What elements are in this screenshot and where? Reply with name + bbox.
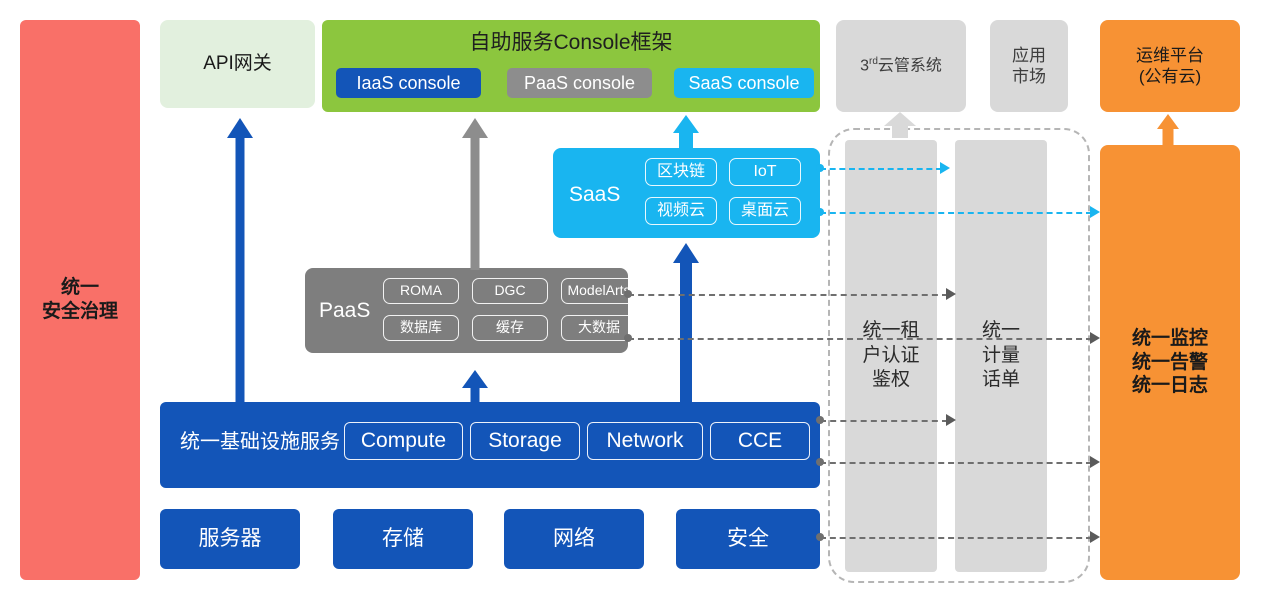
paas-service-dgc: DGC bbox=[472, 278, 548, 304]
dashed-line-infra-to-auth bbox=[820, 420, 948, 422]
api-gateway-box: API网关 bbox=[160, 20, 315, 108]
dashed-line-saas-to-auth bbox=[820, 168, 942, 170]
unified-infrastructure-bar: 统一基础设施服务 Compute Storage Network CCE bbox=[160, 402, 820, 488]
infra-service-compute: Compute bbox=[344, 422, 463, 460]
infra-label: 统一基础设施服务 bbox=[180, 430, 340, 455]
unified-tenant-auth-column: 统一租 户认证 鉴权 bbox=[845, 140, 937, 572]
paas-service-cache: 缓存 bbox=[472, 315, 548, 341]
ops-panel-line1: 统一监控 bbox=[1132, 327, 1208, 351]
arrowhead-paas-to-auth bbox=[946, 288, 956, 300]
security-panel-line1: 统一 bbox=[42, 276, 118, 300]
ops-platform-box: 运维平台 (公有云) bbox=[1100, 20, 1240, 112]
unified-billing-column: 统一 计量 话单 bbox=[955, 140, 1047, 572]
arrowhead-saas-to-auth bbox=[940, 162, 950, 174]
console-framework-title: 自助服务Console框架 bbox=[322, 30, 820, 56]
app-market-box: 应用 市场 bbox=[990, 20, 1068, 112]
app-market-line2: 市场 bbox=[1012, 66, 1046, 87]
arrow-infra-to-api-gateway bbox=[227, 118, 253, 406]
paas-console-chip: PaaS console bbox=[507, 68, 652, 98]
arrow-paas-to-console bbox=[462, 118, 488, 270]
architecture-diagram: 统一 安全治理 API网关 自助服务Console框架 IaaS console… bbox=[0, 0, 1265, 605]
resource-box-server: 服务器 bbox=[160, 509, 300, 569]
arrow-ops-panel-to-ops-platform bbox=[1155, 114, 1181, 146]
paas-layer-box: PaaS ROMA DGC ModelArts 数据库 缓存 大数据 bbox=[305, 268, 628, 353]
resource-box-network: 网络 bbox=[504, 509, 644, 569]
billing-column-line2: 计量 bbox=[982, 344, 1020, 369]
auth-column-line2: 户认证 bbox=[862, 344, 919, 369]
ops-platform-line2: (公有云) bbox=[1136, 66, 1204, 87]
iaas-console-label: IaaS console bbox=[356, 72, 460, 95]
saas-service-blockchain: 区块链 bbox=[645, 158, 717, 186]
saas-service-desktop-cloud: 桌面云 bbox=[729, 197, 801, 225]
dashed-line-paas-to-ops bbox=[628, 338, 1092, 340]
saas-service-iot: IoT bbox=[729, 158, 801, 186]
infra-service-storage: Storage bbox=[470, 422, 580, 460]
arrowhead-infra-to-auth bbox=[946, 414, 956, 426]
arrowhead-saas-to-ops bbox=[1090, 206, 1100, 218]
unified-ops-panel: 统一监控 统一告警 统一日志 bbox=[1100, 145, 1240, 580]
arrowhead-infra-to-ops bbox=[1090, 456, 1100, 468]
resource-box-security: 安全 bbox=[676, 509, 820, 569]
saas-layer-box: SaaS 区块链 IoT 视频云 桌面云 bbox=[553, 148, 820, 238]
iaas-console-chip: IaaS console bbox=[336, 68, 481, 98]
paas-service-roma: ROMA bbox=[383, 278, 459, 304]
ops-panel-line3: 统一日志 bbox=[1132, 374, 1208, 398]
paas-label: PaaS bbox=[319, 298, 370, 324]
self-service-console-framework: 自助服务Console框架 IaaS console PaaS console … bbox=[322, 20, 820, 112]
infra-service-network: Network bbox=[587, 422, 703, 460]
third-cloud-superscript: rd bbox=[869, 56, 878, 67]
saas-console-chip: SaaS console bbox=[674, 68, 814, 98]
unified-security-governance-panel: 统一 安全治理 bbox=[20, 20, 140, 580]
third-cloud-prefix: 3 bbox=[860, 57, 869, 74]
dashed-line-saas-to-ops bbox=[820, 212, 1092, 214]
saas-label: SaaS bbox=[569, 182, 620, 208]
third-cloud-suffix: 云管系统 bbox=[878, 57, 942, 74]
dashed-line-infra-to-ops bbox=[820, 462, 1092, 464]
paas-service-database: 数据库 bbox=[383, 315, 459, 341]
auth-column-line3: 鉴权 bbox=[862, 368, 919, 393]
dashed-line-security-to-ops bbox=[820, 537, 1092, 539]
saas-service-video-cloud: 视频云 bbox=[645, 197, 717, 225]
paas-console-label: PaaS console bbox=[524, 72, 635, 95]
ops-platform-line1: 运维平台 bbox=[1136, 45, 1204, 66]
arrow-shared-to-third-cloud bbox=[885, 112, 915, 138]
arrow-saas-to-console bbox=[673, 115, 699, 151]
saas-console-label: SaaS console bbox=[688, 72, 799, 95]
app-market-line1: 应用 bbox=[1012, 45, 1046, 66]
api-gateway-label: API网关 bbox=[203, 52, 272, 76]
arrowhead-security-to-ops bbox=[1090, 531, 1100, 543]
arrow-infra-to-saas bbox=[673, 243, 699, 406]
third-party-cloud-management-box: 3rd云管系统 bbox=[836, 20, 966, 112]
security-panel-line2: 安全治理 bbox=[42, 300, 118, 324]
resource-box-storage: 存储 bbox=[333, 509, 473, 569]
arrow-infra-to-paas bbox=[462, 370, 488, 406]
dashed-line-paas-to-auth bbox=[628, 294, 948, 296]
arrowhead-paas-to-ops bbox=[1090, 332, 1100, 344]
infra-service-cce: CCE bbox=[710, 422, 810, 460]
billing-column-line3: 话单 bbox=[982, 368, 1020, 393]
ops-panel-line2: 统一告警 bbox=[1132, 351, 1208, 375]
